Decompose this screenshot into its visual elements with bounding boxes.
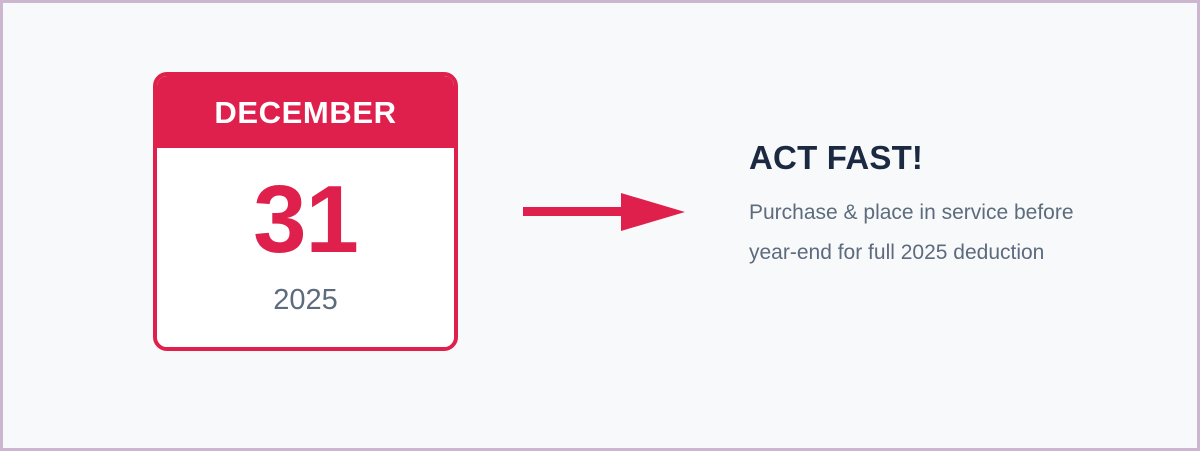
page-frame: DECEMBER 31 2025 ACT FAST! Purchase & pl…: [0, 0, 1200, 451]
message-title: ACT FAST!: [749, 139, 1109, 177]
deadline-callout: DECEMBER 31 2025 ACT FAST! Purchase & pl…: [3, 3, 1197, 448]
arrow-right-glyph: [523, 191, 688, 233]
calendar-year-label: 2025: [273, 286, 338, 315]
message-body: Purchase & place in service before year-…: [749, 193, 1089, 273]
calendar-day-number: 31: [253, 176, 358, 264]
calendar-header: DECEMBER: [157, 76, 454, 148]
calendar-body: 31 2025: [157, 148, 454, 347]
message-block: ACT FAST! Purchase & place in service be…: [749, 139, 1109, 273]
calendar-month-label: DECEMBER: [214, 97, 396, 128]
calendar-card-wrapper: DECEMBER 31 2025: [153, 72, 458, 351]
arrow-right-icon: [523, 191, 688, 233]
calendar-card: DECEMBER 31 2025: [153, 72, 458, 351]
